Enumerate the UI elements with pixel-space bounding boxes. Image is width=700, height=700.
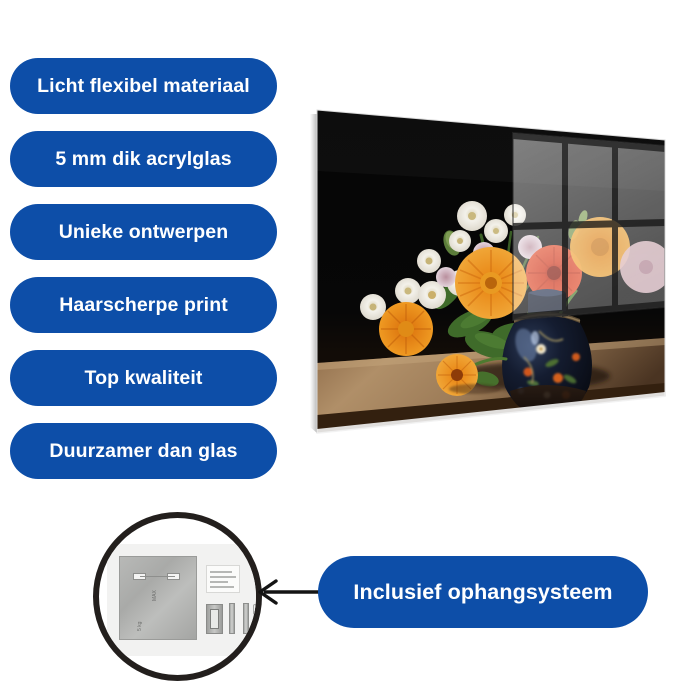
feature-pill-duurzamer-dan-glas[interactable]: Duurzamer dan glas bbox=[10, 423, 277, 479]
hanging-kit-circle: MAX 5 kg bbox=[93, 512, 262, 681]
feature-pill-label: Unieke ontwerpen bbox=[59, 221, 229, 244]
feature-pill-unieke-ontwerpen[interactable]: Unieke ontwerpen bbox=[10, 204, 277, 260]
feature-pill-label: Licht flexibel materiaal bbox=[37, 75, 250, 98]
feature-pill-haarscherpe-print[interactable]: Haarscherpe print bbox=[10, 277, 277, 333]
callout-pill-label: Inclusief ophangsysteem bbox=[353, 580, 612, 605]
orange-marigold-left bbox=[379, 302, 433, 356]
wall-bracket bbox=[206, 604, 223, 634]
screw-2 bbox=[243, 603, 249, 634]
mounting-plate: MAX 5 kg bbox=[119, 556, 197, 640]
panel-thickness-edge bbox=[310, 110, 317, 433]
plate-marking-1: MAX bbox=[152, 590, 158, 601]
feature-pill-label: 5 mm dik acrylglas bbox=[55, 148, 231, 171]
acrylic-glass-panel bbox=[300, 95, 690, 450]
mounting-plate-line bbox=[140, 576, 175, 577]
artwork-image bbox=[310, 105, 672, 440]
feature-pill-label: Haarscherpe print bbox=[59, 294, 228, 317]
screw-1 bbox=[229, 603, 235, 634]
feature-pill-5-mm-dik-acrylglas[interactable]: 5 mm dik acrylglas bbox=[10, 131, 277, 187]
plate-marking-2: 5 kg bbox=[137, 622, 143, 631]
feature-pill-licht-flexibel-materiaal[interactable]: Licht flexibel materiaal bbox=[10, 58, 277, 114]
feature-pill-top-kwaliteit[interactable]: Top kwaliteit bbox=[10, 350, 277, 406]
callout-pill-inclusief-ophangsysteem[interactable]: Inclusief ophangsysteem bbox=[318, 556, 648, 628]
feature-pill-label: Top kwaliteit bbox=[85, 367, 203, 390]
callout-arrow-icon bbox=[250, 575, 326, 609]
feature-pill-label: Duurzamer dan glas bbox=[49, 440, 237, 463]
instruction-card bbox=[206, 565, 240, 593]
product-feature-graphic: Licht flexibel materiaal 5 mm dik acrylg… bbox=[0, 0, 700, 700]
wall-plug-2 bbox=[253, 621, 262, 632]
hanging-kit-photo: MAX 5 kg bbox=[107, 544, 259, 656]
